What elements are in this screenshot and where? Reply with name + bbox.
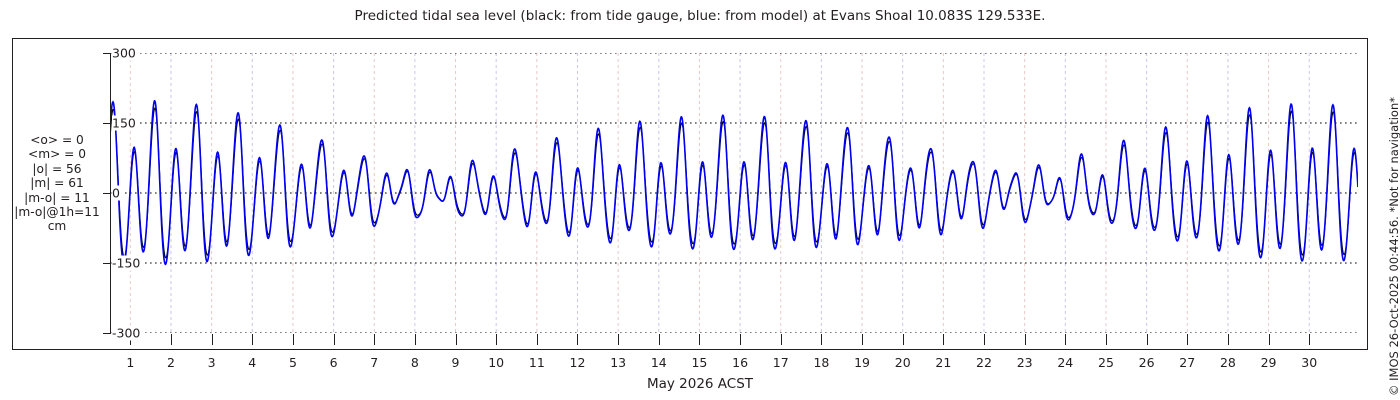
- x-axis-tick: [740, 334, 741, 345]
- x-axis-tick: [1065, 334, 1066, 345]
- x-axis-tick: [821, 334, 822, 345]
- x-axis-label: 5: [289, 355, 297, 370]
- stat-rms-difference-1h: |m-o|@1h=11: [6, 205, 108, 219]
- x-axis-label: 28: [1220, 355, 1236, 370]
- x-axis-label: 26: [1139, 355, 1155, 370]
- x-axis-tick: [334, 334, 335, 345]
- stat-rms-observed: |o| = 56: [6, 162, 108, 176]
- x-axis-tick: [659, 334, 660, 345]
- x-axis-label: 3: [208, 355, 216, 370]
- y-axis-label: -150: [112, 256, 142, 271]
- y-axis-label: 150: [112, 116, 138, 131]
- stat-mean-observed: <o> = 0: [6, 133, 108, 147]
- x-axis-label: 17: [773, 355, 789, 370]
- x-axis-label: 15: [691, 355, 707, 370]
- x-axis-label: 6: [330, 355, 338, 370]
- x-axis-label: 1: [126, 355, 134, 370]
- x-axis-tick: [1025, 334, 1026, 345]
- x-axis-tick: [1309, 334, 1310, 345]
- x-axis-tick: [1187, 334, 1188, 345]
- x-axis-label: 12: [570, 355, 586, 370]
- x-axis-label: 14: [651, 355, 667, 370]
- x-axis-tick: [456, 334, 457, 345]
- x-axis-title: May 2026 ACST: [0, 376, 1400, 392]
- x-axis-label: 2: [167, 355, 175, 370]
- y-axis-label: 300: [112, 46, 138, 61]
- x-axis-tick: [1106, 334, 1107, 345]
- x-axis-label: 7: [370, 355, 378, 370]
- x-axis-label: 4: [248, 355, 256, 370]
- x-axis-label: 21: [935, 355, 951, 370]
- x-axis-label: 24: [1057, 355, 1073, 370]
- y-axis-label: -300: [112, 326, 142, 341]
- page-title: Predicted tidal sea level (black: from t…: [0, 8, 1400, 24]
- x-axis-label: 13: [610, 355, 626, 370]
- x-axis-tick: [577, 334, 578, 345]
- copyright-text: © IMOS 26-Oct-2025 00:44:56. *Not for na…: [1387, 97, 1400, 396]
- x-axis-label: 19: [854, 355, 870, 370]
- x-axis-tick: [537, 334, 538, 345]
- y-axis-tick: [103, 53, 111, 54]
- x-axis-tick: [943, 334, 944, 345]
- x-axis-tick: [1147, 334, 1148, 345]
- stat-rms-difference: |m-o| = 11: [6, 191, 108, 205]
- x-axis-label: 30: [1301, 355, 1317, 370]
- x-axis-label: 8: [411, 355, 419, 370]
- x-axis-label: 29: [1261, 355, 1277, 370]
- stat-rms-model: |m| = 61: [6, 176, 108, 190]
- x-axis-label: 25: [1098, 355, 1114, 370]
- y-axis-tick: [103, 193, 111, 194]
- x-axis-tick: [1228, 334, 1229, 345]
- statistics-block: <o> = 0 <m> = 0 |o| = 56 |m| = 61 |m-o| …: [6, 133, 108, 234]
- tidal-series-svg: [110, 53, 1358, 333]
- grid-vertical-lines: [130, 53, 1309, 333]
- x-axis-label: 10: [488, 355, 504, 370]
- x-axis-label: 27: [1179, 355, 1195, 370]
- x-axis-tick: [862, 334, 863, 345]
- x-axis-tick: [252, 334, 253, 345]
- x-axis-label: 11: [529, 355, 545, 370]
- tidal-chart-page: Predicted tidal sea level (black: from t…: [0, 0, 1400, 400]
- x-axis-tick: [415, 334, 416, 345]
- x-axis-tick: [699, 334, 700, 345]
- y-axis-tick: [103, 263, 111, 264]
- stat-mean-model: <m> = 0: [6, 147, 108, 161]
- y-axis-tick: [103, 123, 111, 124]
- copyright-notice: © IMOS 26-Oct-2025 00:44:56. *Not for na…: [1373, 0, 1391, 400]
- x-axis-label: 9: [452, 355, 460, 370]
- x-axis-tick: [212, 334, 213, 345]
- x-axis-label: 20: [895, 355, 911, 370]
- series-line-model: [110, 101, 1358, 264]
- x-axis-tick: [618, 334, 619, 345]
- x-axis-tick: [903, 334, 904, 345]
- x-axis-label: 18: [813, 355, 829, 370]
- x-axis-label: 23: [1017, 355, 1033, 370]
- x-axis-label: 22: [976, 355, 992, 370]
- plot-area: [110, 53, 1358, 333]
- x-axis-tick: [781, 334, 782, 345]
- x-axis-tick: [171, 334, 172, 345]
- x-axis-tick: [1269, 334, 1270, 345]
- stat-units: cm: [6, 219, 108, 233]
- x-axis-tick: [293, 334, 294, 345]
- x-axis-label: 16: [732, 355, 748, 370]
- x-axis-tick: [374, 334, 375, 345]
- x-axis-tick: [984, 334, 985, 345]
- y-axis-tick: [103, 333, 111, 334]
- y-axis-label: 0: [112, 186, 122, 201]
- x-axis-tick: [496, 334, 497, 345]
